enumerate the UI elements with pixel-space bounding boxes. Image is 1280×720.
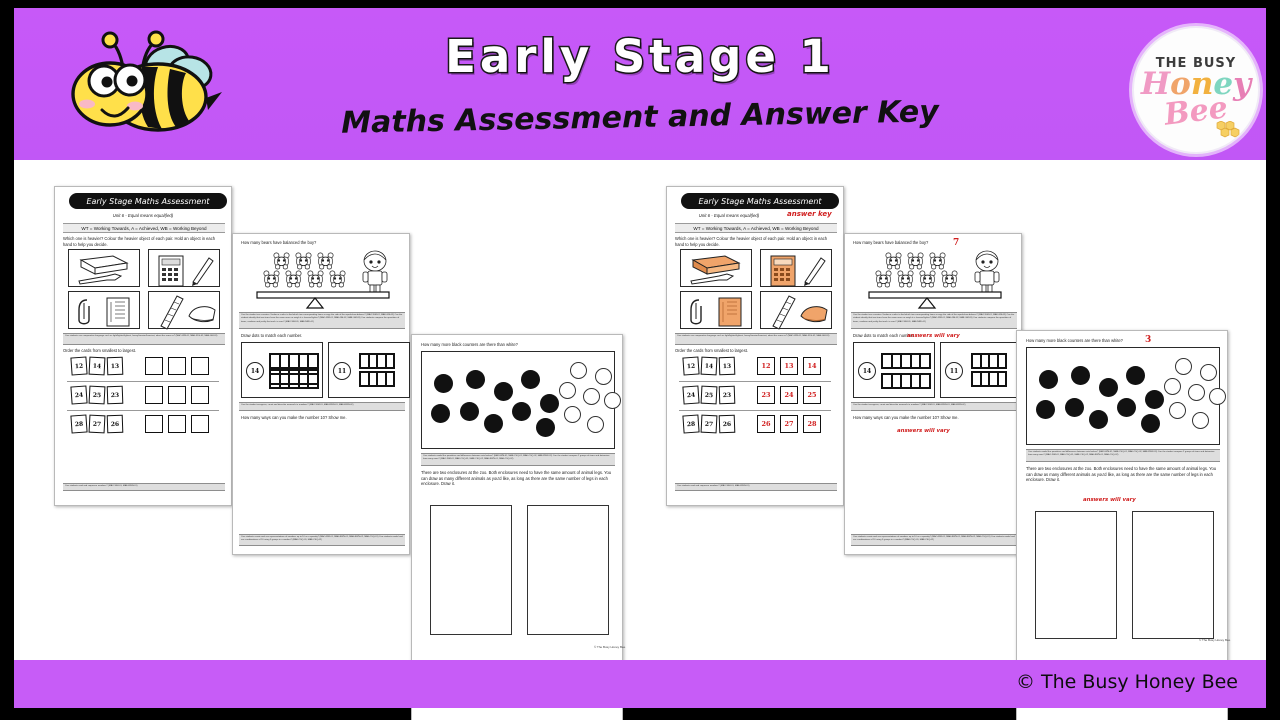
q2-card: 14 [89,357,106,376]
footer-copyright: © The Busy Honey Bee [1016,671,1238,693]
calculator-icon [761,250,833,288]
q2-card: 27 [89,415,106,434]
header-banner: Early Stage 1 Maths Assessment and Answe… [14,8,1266,160]
balance-scene-2 [851,248,1017,310]
q3-prompt-2: How many bears have balanced the boy? [853,240,1013,246]
book-icon [681,250,753,288]
q1-pair-box[interactable] [760,291,832,329]
page-title: Early Stage 1 [14,30,1266,83]
q2-answer-box[interactable]: 26 [757,415,775,433]
q2-card: 24 [682,385,699,404]
q2-card: 23 [107,386,124,405]
q4-panel[interactable]: 11 [940,342,1022,398]
q1-criteria-1: Can students use comparative language su… [63,333,225,345]
q1-pair-box[interactable] [68,249,140,287]
q4-number: 14 [246,362,264,380]
ten-frame[interactable] [881,373,931,389]
q1-pair-box[interactable] [680,249,752,287]
white-counter [1200,364,1217,381]
q6-prompt-2: How many more black counters are there t… [1026,338,1211,344]
q2-card: 13 [107,357,124,376]
q1-pair-box[interactable] [760,249,832,287]
q2-answer-box[interactable] [145,415,163,433]
q3-criteria-1: Can the student use counters / balance s… [239,312,405,329]
white-counter [1164,378,1181,395]
q2-answer-box[interactable]: 27 [780,415,798,433]
q1-pair-box[interactable] [68,291,140,329]
q2-card: 28 [682,414,699,433]
q4-number: 11 [945,362,963,380]
black-counter [1039,370,1058,389]
white-counter [559,382,576,399]
black-counter [1099,378,1118,397]
q2-card: 13 [719,357,736,376]
q2-answer-box[interactable]: 24 [780,386,798,404]
brand-logo: THE BUSY Honey Bee [1132,26,1260,154]
q2-answer-box[interactable] [168,386,186,404]
q2-prompt-2: Order the cards from smallest to largest… [675,348,837,354]
q4-panel[interactable]: 14 [241,342,323,398]
q4-number: 11 [333,362,351,380]
q5-answer: answers will vary [897,428,950,434]
worksheet-page-2[interactable]: How many bears have balanced the boy? [232,233,410,555]
black-counter [540,394,559,413]
q2-card: 25 [701,386,718,405]
q6-counter-area[interactable] [1026,347,1220,445]
q3-criteria-2: Can the student use counters / balance s… [851,312,1017,329]
q1-pair-box[interactable] [148,249,220,287]
q3-prompt-1: How many bears have balanced the boy? [241,240,401,246]
divider [67,410,219,411]
black-counter [1117,398,1136,417]
page-footer-right: © The Busy Honey Bee [1199,638,1230,642]
black-counter [1126,366,1145,385]
divider [67,381,219,382]
q4-criteria-2: Can the student recognise, count and des… [851,402,1017,411]
q5-prompt-2: How many ways can you make the number 10… [853,415,1013,421]
honeycomb-icon [1212,121,1242,139]
q1-pair-box[interactable] [148,291,220,329]
white-counter [595,368,612,385]
white-counter [587,416,604,433]
white-counter [583,388,600,405]
black-counter [1141,414,1160,433]
q2-card: 14 [701,357,718,376]
calculator-icon [149,250,221,288]
q2-criteria-1: Can students read and sequence numbers? … [63,483,225,491]
q2-answer-box[interactable]: 23 [757,386,775,404]
q5-prompt-1: How many ways can you make the number 10… [241,415,401,421]
q2-answer-box[interactable] [191,357,209,375]
q4-answer: answers will vary [907,333,960,339]
q3-answer: 7 [953,238,959,248]
q2-answer-box[interactable]: 28 [803,415,821,433]
q2-card: 27 [701,415,718,434]
white-counter [604,392,621,409]
q5-criteria-1: Can students create and use representati… [239,534,405,546]
answerkey-page-1[interactable]: Early Stage Maths Assessment Unit 6 - Eq… [666,186,844,506]
black-counter [494,382,513,401]
white-counter [564,406,581,423]
q2-answer-box[interactable] [168,357,186,375]
worksheet-page-1[interactable]: Early Stage Maths Assessment Unit 6 - Eq… [54,186,232,506]
enclosure-box[interactable] [1035,511,1117,639]
q1-prompt-1: Which one is heavier? Colour the heavier… [63,236,225,247]
q7-prompt-2: There are two enclosures at the zoo. Bot… [1026,466,1220,483]
divider [679,410,831,411]
q2-answer-box[interactable] [191,386,209,404]
q2-answer-box[interactable]: 12 [757,357,775,375]
black-counter [1036,400,1055,419]
q2-card: 26 [107,415,124,434]
q6-counter-area[interactable] [421,351,615,449]
q2-answer-box[interactable] [168,415,186,433]
q2-answer-box[interactable] [145,357,163,375]
q4-panel[interactable]: 14 [853,342,935,398]
q7-prompt-1: There are two enclosures at the zoo. Bot… [421,470,615,487]
ten-frame[interactable] [269,373,319,389]
worksheet-unit-1: Unit 6 - Equal means equal(led) [55,213,231,218]
ten-frame[interactable] [359,353,395,369]
q1-criteria-2: Can students use comparative language su… [675,333,837,345]
black-counter [1089,410,1108,429]
q5-criteria-2: Can students create and use representati… [851,534,1017,546]
white-counter [1175,358,1192,375]
q4-number: 14 [858,362,876,380]
black-counter [536,418,555,437]
worksheet-banner-1: Early Stage Maths Assessment [69,193,227,209]
q2-prompt-1: Order the cards from smallest to largest… [63,348,225,354]
q2-answer-box[interactable] [191,415,209,433]
ten-frame[interactable] [881,353,931,369]
white-counter [1169,402,1186,419]
q6-criteria-2: Can students model the quantities and di… [1026,449,1220,462]
black-counter [434,374,453,393]
q7-answer: answers will vary [1083,497,1136,503]
q4-panel[interactable]: 11 [328,342,410,398]
black-counter [1145,390,1164,409]
q6-criteria-1: Can students model the quantities and di… [421,453,615,466]
black-counter [512,402,531,421]
q1-pair-box[interactable] [680,291,752,329]
q2-answer-box[interactable] [145,386,163,404]
ten-frame[interactable] [971,353,1007,369]
black-counter [431,404,450,423]
ruler-icon [149,292,221,330]
enclosure-box[interactable] [430,505,512,635]
black-counter [1065,398,1084,417]
stapler-icon [761,292,833,330]
q4-criteria-1: Can the student recognise, count and des… [239,402,405,411]
q2-card: 23 [719,386,736,405]
q2-card: 24 [70,385,87,404]
black-counter [460,402,479,421]
balance-scene-1 [239,248,405,310]
answerkey-legend-1: WT = Working Towards, A = Achieved, WB =… [675,223,837,233]
answerkey-page-2[interactable]: How many bears have balanced the boy? 7 [844,233,1022,555]
white-counter [1192,412,1209,429]
enclosure-box[interactable] [527,505,609,635]
page-footer-left: © The Busy Honey Bee [594,645,625,649]
white-counter [570,362,587,379]
q2-criteria-2: Can students read and sequence numbers? … [675,483,837,491]
black-counter [1071,366,1090,385]
q1-prompt-2: Which one is heavier? Colour the heavier… [675,236,837,247]
black-counter [521,370,540,389]
q2-answer-box[interactable]: 13 [780,357,798,375]
q2-answer-box[interactable]: 14 [803,357,821,375]
q6-answer: 3 [1145,335,1151,345]
paperclip-icon [681,292,753,330]
white-counter [1209,388,1226,405]
q2-answer-box[interactable]: 25 [803,386,821,404]
preview-stage: Early Stage Maths Assessment Unit 6 - Eq… [14,160,1266,660]
book-icon [69,250,141,288]
paperclip-icon [69,292,141,330]
q2-card: 12 [70,356,87,375]
ten-frame[interactable] [359,371,395,387]
q2-card: 25 [89,386,106,405]
white-counter [1188,384,1205,401]
q6-prompt-1: How many more black counters are there t… [421,342,616,348]
q2-card: 12 [682,356,699,375]
q4-prompt-1: Draw dots to match each number. [241,333,401,339]
ten-frame[interactable] [269,353,319,369]
answer-key-label: answer key [787,210,832,218]
answerkey-banner-1: Early Stage Maths Assessment [681,193,839,209]
enclosure-box[interactable] [1132,511,1214,639]
black-counter [484,414,503,433]
black-counter [466,370,485,389]
ten-frame[interactable] [971,371,1007,387]
q2-card: 26 [719,415,736,434]
divider [679,381,831,382]
q2-card: 28 [70,414,87,433]
worksheet-legend-1: WT = Working Towards, A = Achieved, WB =… [63,223,225,233]
footer-banner: © The Busy Honey Bee [14,660,1266,708]
